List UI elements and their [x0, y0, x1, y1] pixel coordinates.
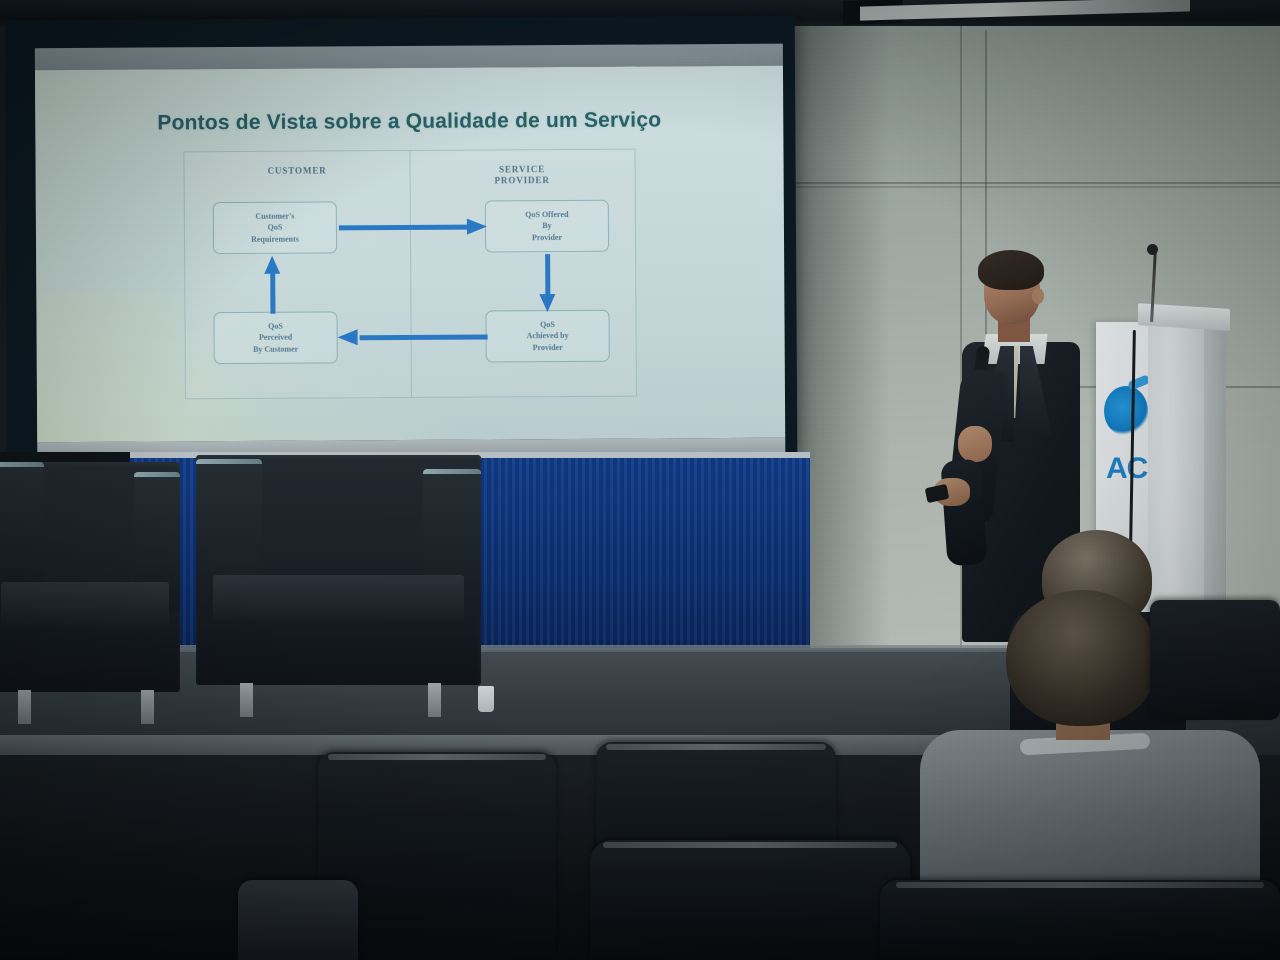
- box-qos-achieved-by-provider: QoS Achieved by Provider: [485, 310, 609, 363]
- paper-cup: [478, 686, 494, 712]
- arrow-achieved-to-perceived: [338, 331, 488, 342]
- auditorium-seat-5: [880, 880, 1280, 960]
- screen-surface: Pontos de Vista sobre a Qualidade de um …: [35, 66, 785, 443]
- banner-logo-mark-icon: [1104, 386, 1148, 436]
- presenter-ear: [1032, 288, 1044, 304]
- presenter-lowered-arm: [940, 459, 987, 567]
- presenter-hair: [978, 250, 1044, 290]
- seat-cushion: [1, 582, 168, 628]
- auditorium-seat-side: [1150, 600, 1280, 720]
- arrow-requirements-to-offered: [339, 221, 487, 232]
- conference-room-photo: Pontos de Vista sobre a Qualidade de um …: [0, 0, 1280, 960]
- chair-leg: [18, 690, 31, 724]
- slide-title: Pontos de Vista sobre a Qualidade de um …: [59, 108, 759, 136]
- presentation-slide: Pontos de Vista sobre a Qualidade de um …: [35, 66, 785, 443]
- column-header-service-provider: SERVICE PROVIDER: [410, 164, 635, 188]
- chair-leg: [240, 683, 253, 717]
- box-qos-offered-by-provider: QoS Offered By Provider: [485, 200, 609, 253]
- microphone-head-icon: [1147, 244, 1158, 255]
- projection-screen: Pontos de Vista sobre a Qualidade de um …: [5, 16, 798, 459]
- diagram-divider: [409, 151, 412, 397]
- column-header-customer: CUSTOMER: [185, 165, 410, 178]
- seat-cushion: [213, 575, 464, 621]
- banner-logo-text: AC: [1106, 452, 1147, 486]
- qos-diagram: CUSTOMER SERVICE PROVIDER Customer's QoS…: [183, 149, 637, 400]
- box-customer-qos-requirements: Customer's QoS Requirements: [213, 201, 337, 254]
- box-qos-perceived-by-customer: QoS Perceived By Customer: [213, 311, 337, 364]
- audience-member-hair: [1006, 590, 1158, 726]
- chair-leg: [428, 683, 441, 717]
- armchair-right: [196, 455, 481, 685]
- chair-leg: [141, 690, 154, 724]
- arrow-perceived-to-requirements: [267, 256, 277, 314]
- armchair-left: [0, 462, 180, 692]
- presenter-hand-holding-microphone: [958, 426, 992, 462]
- arrow-offered-to-achieved: [542, 254, 552, 312]
- auditorium-seat-3: [590, 840, 910, 960]
- auditorium-seat-4: [238, 880, 358, 960]
